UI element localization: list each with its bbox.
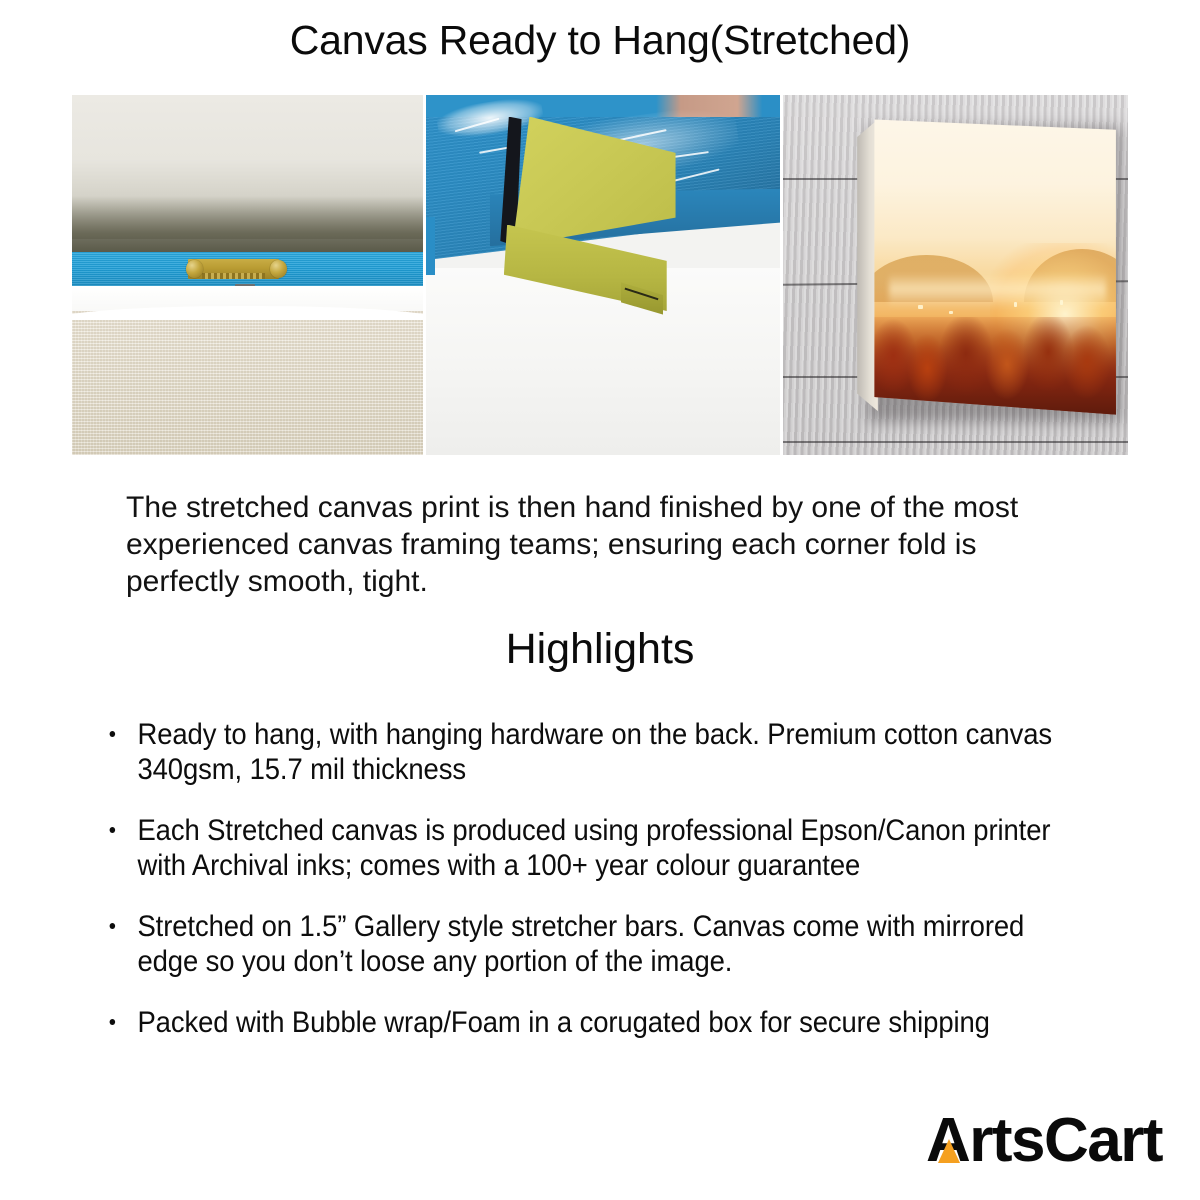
intro-paragraph: The stretched canvas print is then hand … — [126, 489, 1066, 600]
list-item-text: Stretched on 1.5” Gallery style stretche… — [137, 910, 1024, 978]
product-image-gallery — [72, 95, 1128, 455]
bullet-dot-icon — [110, 1019, 116, 1025]
plank-seam — [783, 441, 1128, 443]
town-light — [918, 305, 923, 309]
valley-mist — [889, 273, 1106, 308]
bullet-dot-icon — [110, 827, 116, 833]
list-item-text: Each Stretched canvas is produced using … — [137, 814, 1050, 882]
bullet-dot-icon — [110, 923, 116, 929]
town-light — [949, 311, 952, 314]
gallery-image-corner-fold-detail — [426, 95, 780, 455]
triangle-icon — [938, 1139, 960, 1163]
brand-logo: ArtsCart — [926, 1110, 1162, 1172]
page-title: Canvas Ready to Hang(Stretched) — [0, 0, 1200, 64]
highlights-list: Ready to hang, with hanging hardware on … — [104, 717, 1124, 1066]
canvas-printed-face — [874, 119, 1116, 414]
town-light — [1014, 302, 1017, 306]
brand-logo-text: ArtsCart — [926, 1110, 1162, 1172]
list-item: Ready to hang, with hanging hardware on … — [104, 717, 1053, 787]
sawtooth-teeth — [202, 273, 265, 279]
gallery-image-canvas-back-hanger — [72, 95, 423, 455]
list-item: Packed with Bubble wrap/Foam in a coruga… — [104, 1005, 1053, 1040]
bullet-dot-icon — [110, 731, 116, 737]
shadow-gradient — [72, 196, 423, 254]
list-item: Each Stretched canvas is produced using … — [104, 813, 1053, 883]
list-item-text: Packed with Bubble wrap/Foam in a coruga… — [137, 1006, 989, 1039]
highlights-heading: Highlights — [0, 625, 1200, 674]
list-item-text: Ready to hang, with hanging hardware on … — [137, 718, 1052, 786]
list-item: Stretched on 1.5” Gallery style stretche… — [104, 909, 1053, 979]
town-light — [1060, 300, 1062, 306]
gallery-image-canvas-on-wood-wall — [783, 95, 1128, 455]
canvas-left-edge-sliver — [426, 217, 435, 275]
canvas-textile-face — [72, 311, 423, 455]
